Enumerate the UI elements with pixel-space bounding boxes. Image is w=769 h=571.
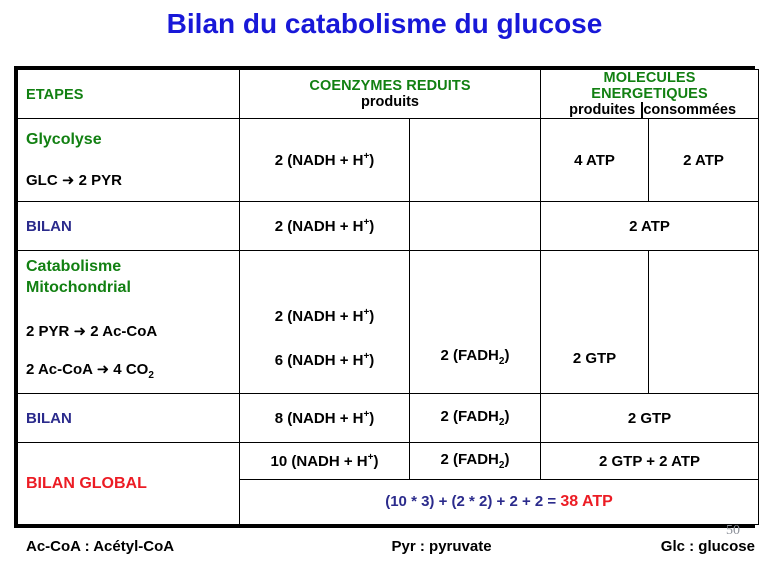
legend-glc: Glc : glucose: [551, 538, 755, 555]
reaction-accoa-co2: 2 Ac-CoA ➜ 4 CO2: [26, 354, 231, 387]
cell-energetiques-bilan-glycolyse: 2 ATP: [541, 202, 759, 251]
cell-produites-glycolyse: 4 ATP: [541, 119, 649, 202]
value-nadh-accoa-co2: 6 (NADH + H+): [248, 342, 401, 378]
header-label-molecules: MOLECULES ENERGETIQUES: [549, 70, 750, 102]
cell-fadh-bilan-global: 2 (FADH2): [410, 443, 541, 480]
cell-fadh-bilan-mitochondrial: 2 (FADH2): [410, 394, 541, 443]
cell-produites-mitochondrial: 2 GTP: [541, 251, 649, 394]
header-label-etapes: ETAPES: [26, 87, 84, 103]
formula-expression: (10 * 3) + (2 * 2) + 2 + 2 =: [385, 493, 560, 510]
cell-formula-total: (10 * 3) + (2 * 2) + 2 + 2 = 38 ATP: [240, 480, 759, 525]
table-row: Catabolisme Mitochondrial 2 PYR ➜ 2 Ac-C…: [18, 251, 759, 394]
cell-nadh-bilan-global: 10 (NADH + H+): [240, 443, 410, 480]
table-row: Glycolyse GLC ➜ 2 PYR 2 (NADH + H+) 4 AT…: [18, 119, 759, 202]
cell-nadh-bilan-mitochondrial: 8 (NADH + H+): [240, 394, 410, 443]
value-nadh-pyr-accoa: 2 (NADH + H+): [248, 298, 401, 334]
cell-fadh-glycolyse: [410, 119, 541, 202]
bilan-table: ETAPES COENZYMES REDUITS produits MOLECU…: [17, 69, 759, 525]
reaction-glycolyse: GLC ➜ 2 PYR: [26, 168, 231, 192]
legend-ac-coa: Ac-CoA : Acétyl-CoA: [14, 538, 332, 555]
cell-nadh-glycolyse: 2 (NADH + H+): [240, 119, 410, 202]
bilan-table-container: ETAPES COENZYMES REDUITS produits MOLECU…: [14, 66, 755, 528]
table-header-row: ETAPES COENZYMES REDUITS produits MOLECU…: [18, 70, 759, 119]
cell-consommees-glycolyse: 2 ATP: [649, 119, 759, 202]
header-sublabel-coenzymes: produits: [248, 94, 532, 110]
label-bilan-glycolyse: BILAN: [26, 218, 72, 235]
header-cell-etapes: ETAPES: [18, 70, 240, 119]
cell-consommees-mitochondrial: [649, 251, 759, 394]
header-sublabel-produites: produites: [563, 102, 641, 118]
cell-nadh-mitochondrial: 2 (NADH + H+) 6 (NADH + H+): [240, 251, 410, 394]
label-glycolyse: Glycolyse: [26, 128, 231, 152]
table-row: BILAN GLOBAL 10 (NADH + H+) 2 (FADH2) 2 …: [18, 443, 759, 480]
cell-label-bilan-global: BILAN GLOBAL: [18, 443, 240, 525]
cell-fadh-mitochondrial: 2 (FADH2): [410, 251, 541, 394]
cell-energetiques-bilan-global: 2 GTP + 2 ATP: [541, 443, 759, 480]
reaction-pyr-accoa: 2 PYR ➜ 2 Ac-CoA: [26, 316, 231, 346]
page-title: Bilan du catabolisme du glucose: [0, 8, 769, 40]
table-row: BILAN 8 (NADH + H+) 2 (FADH2) 2 GTP: [18, 394, 759, 443]
header-sublabel-consommees: consommées: [641, 102, 736, 118]
footer-legend: Ac-CoA : Acétyl-CoA Pyr : pyruvate Glc :…: [14, 538, 755, 555]
label-bilan-mitochondrial: BILAN: [26, 410, 72, 427]
header-label-coenzymes: COENZYMES REDUITS: [248, 78, 532, 94]
legend-pyr: Pyr : pyruvate: [332, 538, 551, 555]
table-row: BILAN 2 (NADH + H+) 2 ATP: [18, 202, 759, 251]
formula-result: 38 ATP: [560, 493, 612, 510]
label-mitochondrial: Catabolisme Mitochondrial: [26, 257, 231, 299]
cell-energetiques-bilan-mitochondrial: 2 GTP: [541, 394, 759, 443]
reaction-glycolyse-text: GLC ➜ 2 PYR: [26, 172, 122, 189]
page-number: 50: [726, 523, 740, 539]
cell-label-bilan-mitochondrial: BILAN: [18, 394, 240, 443]
cell-etape-mitochondrial: Catabolisme Mitochondrial 2 PYR ➜ 2 Ac-C…: [18, 251, 240, 394]
cell-label-bilan-glycolyse: BILAN: [18, 202, 240, 251]
header-cell-molecules: MOLECULES ENERGETIQUES produites consomm…: [541, 70, 759, 119]
label-bilan-global: BILAN GLOBAL: [26, 475, 147, 492]
header-cell-coenzymes: COENZYMES REDUITS produits: [240, 70, 541, 119]
cell-etape-glycolyse: Glycolyse GLC ➜ 2 PYR: [18, 119, 240, 202]
cell-nadh-bilan-glycolyse: 2 (NADH + H+): [240, 202, 410, 251]
cell-fadh-bilan-glycolyse: [410, 202, 541, 251]
